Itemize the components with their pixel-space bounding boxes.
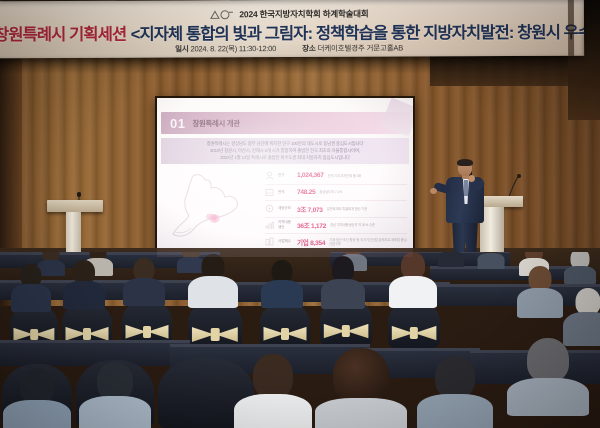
list-item [66,260,102,308]
list-item [14,264,48,310]
chair-sash-knot [410,327,418,339]
company-icon [265,237,274,246]
microphone-icon [507,174,521,198]
banner-date-label: 일시 [175,44,189,53]
audience-head [333,348,389,404]
chair-sash-knot [143,326,151,338]
banner-session-title: <지자체 통합의 빛과 그림자: 정책학습을 통한 지방자치발전: 창원시 우수… [131,23,584,43]
grdp-icon [265,221,274,230]
banner-right-edge [568,0,574,57]
projection-screen: 01 창원특례시 개관 창원특례시는 경상남도 중부 남단에 위치한 인구 10… [157,98,413,257]
audience-shoulders [3,400,71,428]
audience-shoulders [188,276,238,308]
audience-head [20,368,54,404]
list-item [420,356,490,428]
presenter-hair [457,159,473,166]
list-item [264,260,300,308]
population-icon [265,171,274,180]
list-item [392,252,434,306]
banner-place-value: 더케이호텔경주 거문고홀AB [317,44,403,53]
audience-shoulders [261,280,303,308]
table-row: 인구 1,024,367 전국 기초자치단체 중 3위 [265,168,407,185]
list-item [566,288,600,344]
presenter-tie [464,180,468,196]
slide-subtitle-line: 2022년 1월 13일 특례시로 출범한 비수도권 최대 지방자치 중심도시입… [220,155,350,161]
list-item [84,362,146,428]
banner-place-label: 장소 [302,44,316,53]
slide-stats-list: 인구 1,024,367 전국 기초자치단체 중 3위 면적 748.25 경상… [265,168,407,250]
list-item [238,354,308,428]
audience-shoulders [321,279,365,309]
stat-description: 경상남도의 7.1% [319,190,342,194]
audience-shoulders [63,281,105,309]
list-item [438,252,464,266]
stat-description: 전국 기초자치단체 중 3위 [328,174,362,178]
list-item [8,368,66,428]
list-item [565,252,595,282]
changwon-highlight-dot [209,214,220,223]
stat-description: 기계·방산·조선·항공 등 국가기간산업 집적지로 제조업 중심 산업구조 [329,238,407,246]
audience-head [253,354,293,398]
audience-shoulders [438,252,464,267]
banner-info-row: 일시 2024. 8. 22(목) 11:30-12:00 장소 더케이호텔경주… [0,42,584,56]
audience-shoulders [123,278,165,306]
list-item [324,256,362,306]
audience-shoulders [517,288,563,318]
audience-shoulders [417,394,493,428]
audience-shoulders [11,284,51,312]
stat-value: 36조 1,172 [297,220,326,230]
stat-label: 사업체수 [278,239,293,244]
stat-label: 지역내총생산 [278,220,293,230]
list-item [478,252,504,268]
slide-subtitle-block: 창원특례시는 경상남도 중부 남단에 위치한 인구 100만의 대도시로 동남권… [161,138,409,164]
list-item [318,348,404,428]
audience-head [97,362,133,400]
chair-sash-knot [281,328,289,340]
banner-date-value: 2024. 8. 22(목) 11:30-12:00 [190,44,276,53]
audience-shoulders [389,276,437,308]
stat-value: 기업 8,354 [297,237,325,247]
audience-shoulders [315,398,407,428]
slide-section-number: 01 [170,116,185,131]
stat-label: 면적 [278,190,293,195]
slide-section-title: 창원특례시 개관 [192,118,239,129]
audience-shoulders [564,266,596,284]
area-icon [265,188,274,197]
budget-icon [265,204,274,213]
event-banner: 2024 한국지방자치학회 하계학술대회 창원특례시 기획세션 <지자체 통합의… [0,0,584,58]
list-item [192,254,234,306]
lectern-left-top [47,200,103,212]
chair-sash-knot [342,325,350,337]
table-row: 재정규모 3조 7,073 일반회계와 특별회계 합산 기준 [265,201,407,218]
presenter [436,160,496,266]
conference-photo: 2024 한국지방자치학회 하계학술대회 창원특례시 기획세션 <지자체 통합의… [0,0,600,428]
stat-value: 748.25 [297,189,315,196]
audience-shoulders [234,394,312,428]
stat-value: 3조 7,073 [297,204,323,214]
stat-value: 1,024,367 [297,172,324,179]
slide-body: 인구 1,024,367 전국 기초자치단체 중 3위 면적 748.25 경상… [157,166,413,251]
banner-place: 장소 더케이호텔경주 거문고홀AB [302,43,403,54]
stat-description: 일반회계와 특별회계 합산 기준 [327,207,368,211]
lectern-left [47,200,103,260]
audience-head [527,338,569,382]
audience-shoulders [507,378,589,416]
chair-sash-knot [30,329,38,340]
banner-org-line: 2024 한국지방자치학회 하계학술대회 [239,8,368,21]
banner-session-label: 창원특례시 기획세션 [0,26,126,45]
slide-subtitle-line: 창원특례시는 경상남도 중부 남단에 위치한 인구 100만의 대도시로 동남권… [207,141,364,147]
stat-label: 재정규모 [278,206,293,211]
stat-description: 경남 지역내총생산의 약 30% 수준 [330,223,375,227]
list-item [126,258,162,306]
slide-subtitle-line: 2010년 창원시, 마산시, 진해시 3개 시가 통합하여 출범한 전국 최초… [210,148,360,154]
association-logo-icon [209,9,235,20]
audience-shoulders [478,253,505,269]
audience-area [0,252,600,428]
audience-head [401,252,425,279]
slide-header-bar: 01 창원특례시 개관 [161,112,410,134]
audience-head [435,356,475,398]
presenter-left-hand [430,188,437,194]
table-row: 지역내총생산 36조 1,172 경남 지역내총생산의 약 30% 수준 [265,218,407,235]
presenter-right-hand [468,175,475,182]
list-item [510,338,586,416]
table-row: 면적 748.25 경상남도의 7.1% [265,185,407,202]
chair-sash-knot [211,328,220,341]
korea-map-outline-icon [163,170,261,248]
audience-shoulders [79,396,151,428]
banner-date: 일시 2024. 8. 22(목) 11:30-12:00 [175,43,276,54]
chair-with-sash [260,302,310,348]
stat-label: 인구 [278,173,293,178]
chair-sash-knot [83,328,91,340]
list-item [520,266,560,318]
audience-head [576,288,600,315]
